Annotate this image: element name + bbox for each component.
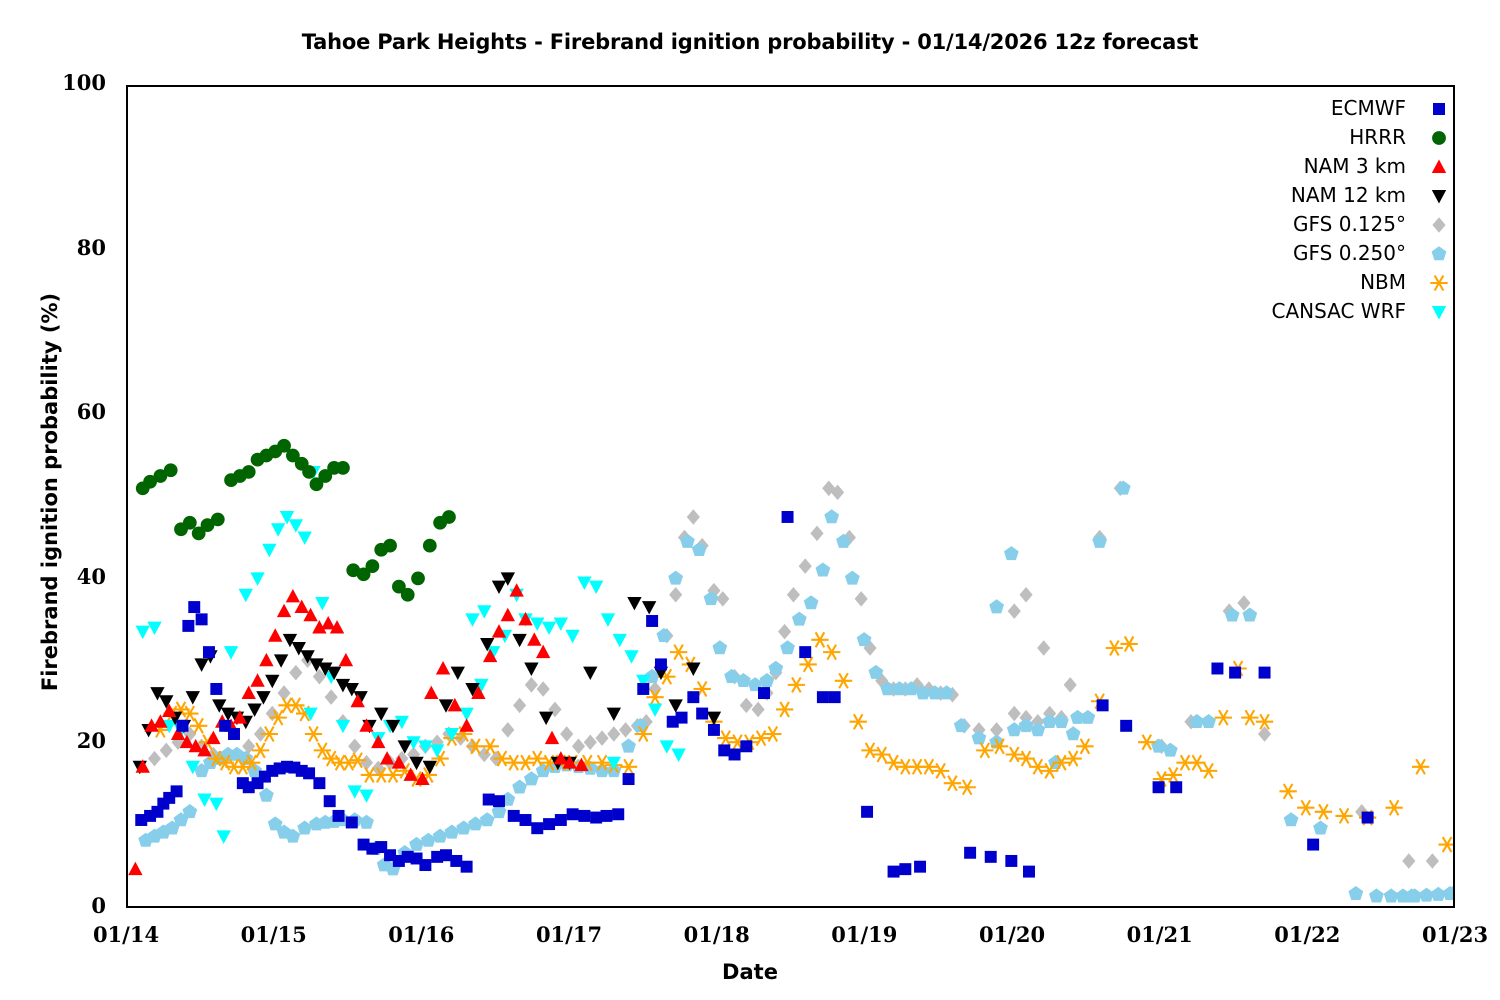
triangle-up-marker-icon [1428,156,1450,178]
x-tick-label-5: 01/19 [804,922,924,947]
y-axis-label: Firebrand ignition probability (%) [38,212,62,772]
legend-item-cansac-wrf[interactable]: CANSAC WRF [1150,297,1450,326]
pentagon-marker-icon [1428,243,1450,265]
asterisk-marker-icon [1428,272,1450,294]
legend-label: ECMWF [1331,94,1428,123]
chart-title: Tahoe Park Heights - Firebrand ignition … [0,30,1500,54]
x-tick-label-3: 01/17 [509,922,629,947]
legend-item-hrrr[interactable]: HRRR [1150,123,1450,152]
y-tick-label-80: 80 [46,235,106,260]
x-axis-label: Date [0,960,1500,984]
y-tick-label-60: 60 [46,399,106,424]
legend-item-gfs-0-125[interactable]: GFS 0.125° [1150,210,1450,239]
square-marker-icon [1428,98,1450,120]
x-tick-label-2: 01/16 [361,922,481,947]
y-tick-label-100: 100 [46,70,106,95]
y-tick-label-0: 0 [46,893,106,918]
x-tick-label-0: 01/14 [66,922,186,947]
y-tick-label-20: 20 [46,728,106,753]
legend-label: NBM [1360,268,1428,297]
legend-item-gfs-0-250[interactable]: GFS 0.250° [1150,239,1450,268]
triangle-down-marker-icon [1428,185,1450,207]
x-tick-label-6: 01/20 [952,922,1072,947]
legend-item-nam-12-km[interactable]: NAM 12 km [1150,181,1450,210]
chart-legend: ECMWFHRRRNAM 3 kmNAM 12 kmGFS 0.125°GFS … [1150,94,1450,326]
legend-label: NAM 3 km [1304,152,1428,181]
circle-marker-icon [1428,127,1450,149]
x-tick-label-1: 01/15 [214,922,334,947]
x-tick-label-4: 01/18 [657,922,777,947]
x-tick-label-9: 01/23 [1395,922,1500,947]
legend-label: GFS 0.125° [1293,210,1428,239]
diamond-marker-icon [1428,214,1450,236]
y-tick-label-40: 40 [46,564,106,589]
x-tick-label-7: 01/21 [1100,922,1220,947]
legend-label: NAM 12 km [1291,181,1428,210]
legend-label: GFS 0.250° [1293,239,1428,268]
x-tick-label-8: 01/22 [1247,922,1367,947]
legend-item-nbm[interactable]: NBM [1150,268,1450,297]
legend-item-ecmwf[interactable]: ECMWF [1150,94,1450,123]
legend-label: CANSAC WRF [1271,297,1428,326]
chart-figure: Tahoe Park Heights - Firebrand ignition … [0,0,1500,1000]
legend-label: HRRR [1349,123,1428,152]
series-gfs-0-250 [138,481,1453,903]
triangle-down-marker-icon [1428,301,1450,323]
legend-item-nam-3-km[interactable]: NAM 3 km [1150,152,1450,181]
